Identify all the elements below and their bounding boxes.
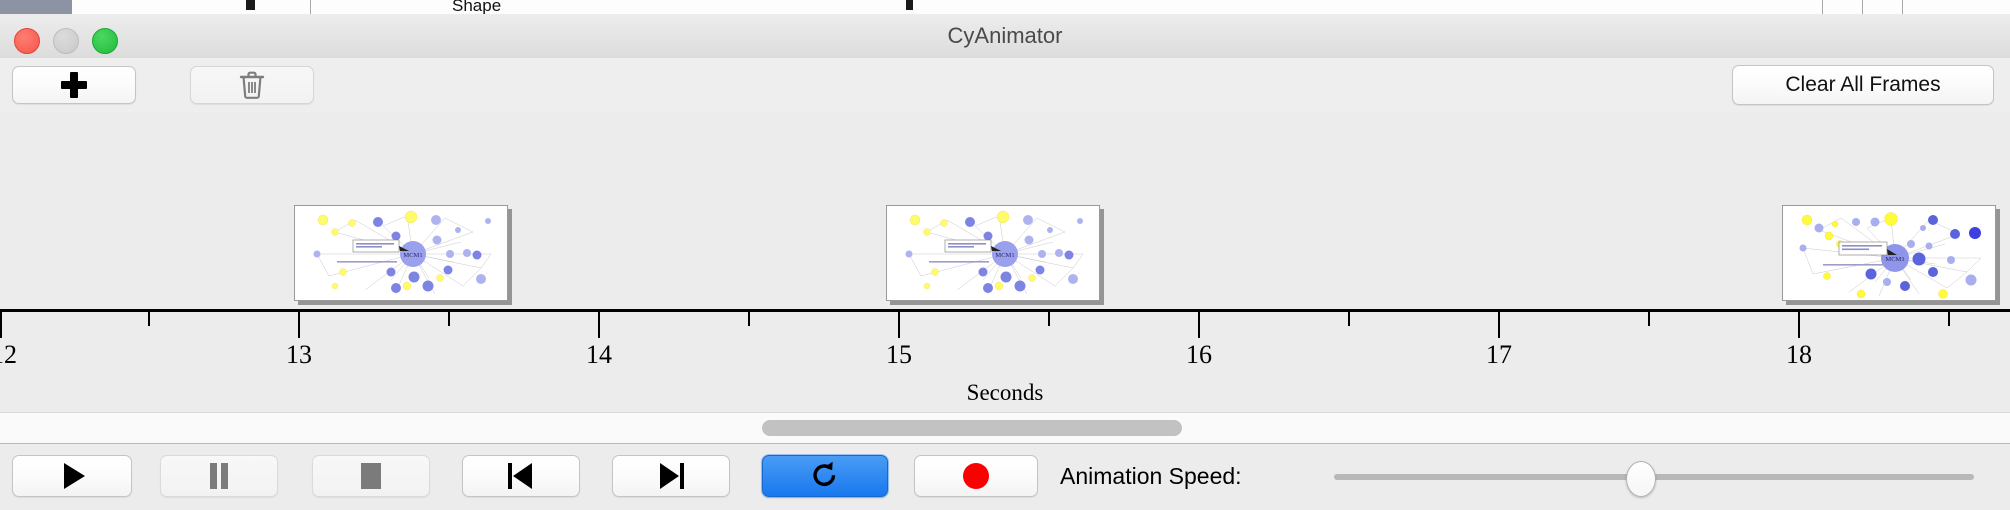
slider-thumb[interactable] [1626,461,1656,497]
timeline-axis-line [0,309,2010,312]
record-icon [963,463,989,489]
background-window-strip: Shape [0,0,2010,15]
axis-tick-label: 15 [886,340,912,370]
skip-forward-button[interactable] [612,455,730,497]
title-bar: CyAnimator [0,14,2010,59]
timeline-panel[interactable]: MCM1 [0,112,2010,412]
play-icon [64,463,85,489]
axis-tick-minor [1048,312,1050,326]
axis-tick-label: 13 [286,340,312,370]
axis-tick-label: 12 [0,340,17,370]
timeline-frame-thumbnail[interactable]: MCM1 [1782,205,1996,301]
trash-icon [238,70,266,100]
cyanimator-window: Shape CyAnimator Clear All Frames [0,0,2010,510]
play-button[interactable] [12,455,132,497]
add-frame-button[interactable] [12,66,136,104]
pause-icon [208,463,230,489]
delete-frame-button[interactable] [190,66,314,104]
animation-speed-slider[interactable] [1334,455,1974,497]
stop-icon [361,463,381,489]
axis-tick-minor [448,312,450,326]
network-graph-thumbnail: MCM1 [295,206,507,300]
background-window-label: Shape [452,0,501,15]
network-graph-thumbnail: MCM1 [1783,206,1995,300]
loop-button[interactable] [762,455,888,497]
skip-forward-icon [658,463,684,489]
record-button[interactable] [914,455,1038,497]
axis-tick-major [898,312,900,338]
axis-tick-label: 16 [1186,340,1212,370]
window-title: CyAnimator [0,14,2010,58]
axis-tick-major [0,312,2,338]
axis-tick-major [298,312,300,338]
axis-tick-label: 18 [1786,340,1812,370]
axis-tick-major [598,312,600,338]
timeline-frame-thumbnail[interactable]: MCM1 [294,205,508,301]
axis-tick-major [1198,312,1200,338]
axis-tick-label: 17 [1486,340,1512,370]
animation-speed-label: Animation Speed: [1060,455,1242,497]
scrollbar-thumb[interactable] [762,420,1182,436]
timeline-horizontal-scrollbar[interactable] [0,412,2010,445]
clear-all-frames-button[interactable]: Clear All Frames [1732,65,1994,105]
skip-backward-button[interactable] [462,455,580,497]
frame-toolbar: Clear All Frames [0,58,2010,113]
svg-text:MCM1: MCM1 [403,252,422,259]
timeline-frame-thumbnail[interactable]: MCM1 [886,205,1100,301]
svg-text:MCM1: MCM1 [1885,256,1904,263]
axis-tick-minor [148,312,150,326]
skip-backward-icon [508,463,534,489]
pause-button[interactable] [160,455,278,497]
axis-tick-label: 14 [586,340,612,370]
axis-tick-minor [1348,312,1350,326]
axis-tick-major [1498,312,1500,338]
loop-icon [810,461,840,491]
axis-tick-minor [1648,312,1650,326]
axis-tick-minor [748,312,750,326]
transport-bar: Animation Speed: [0,444,2010,510]
network-graph-thumbnail: MCM1 [887,206,1099,300]
svg-text:MCM1: MCM1 [995,252,1014,259]
axis-tick-major [1798,312,1800,338]
stop-button[interactable] [312,455,430,497]
axis-title: Seconds [0,380,2010,406]
axis-tick-minor [1948,312,1950,326]
plus-icon [61,72,87,98]
